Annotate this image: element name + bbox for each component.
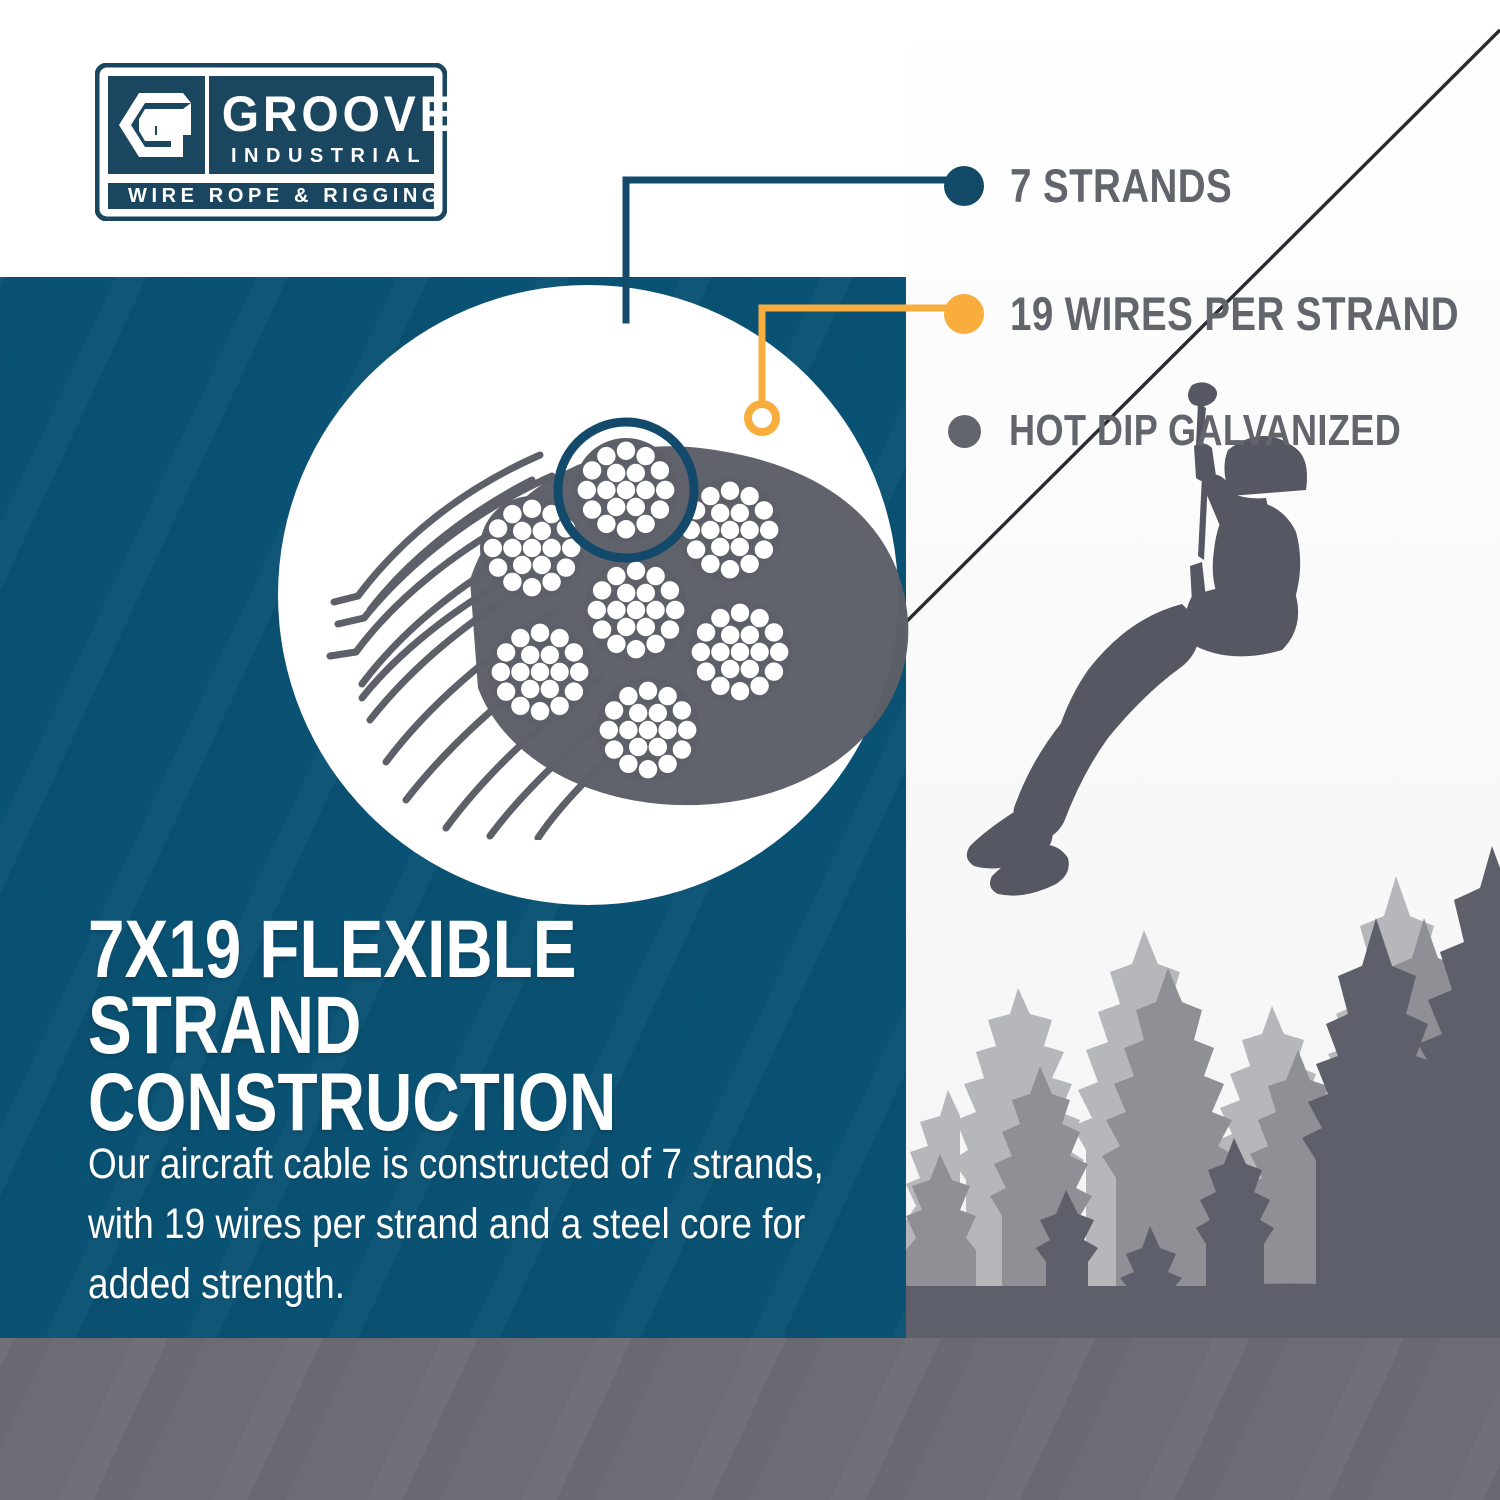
callout-19-wires-per-strand[interactable]: 19 WIRES PER STRAND (944, 286, 1500, 341)
strand-core (584, 558, 688, 662)
brand-logo[interactable]: GROOVE INDUSTRIAL WIRE ROPE & RIGGING (95, 63, 447, 221)
logo-subtitle: INDUSTRIAL (231, 145, 427, 167)
body-paragraph: Our aircraft cable is constructed of 7 s… (88, 1134, 828, 1315)
callout-7-strands[interactable]: 7 STRANDS (944, 158, 1281, 213)
callout-label-strands: 7 STRANDS (1010, 158, 1232, 213)
page-title: 7X19 FLEXIBLE STRAND CONSTRUCTION (88, 912, 728, 1141)
logo-wordmark: GROOVE (222, 87, 447, 142)
logo-divider (205, 76, 209, 174)
footer-band (0, 1338, 1500, 1500)
strand-bottom (596, 678, 700, 782)
orange-anchor-ring (748, 404, 776, 432)
headline-line-2: STRAND CONSTRUCTION (88, 988, 728, 1141)
connector-strands (626, 180, 952, 320)
gray-dot-icon (948, 415, 981, 448)
logo-tagline: WIRE ROPE & RIGGING (128, 185, 442, 207)
callout-label-galvanized: HOT DIP GALVANIZED (1009, 406, 1401, 456)
navy-dot-icon (944, 166, 984, 206)
brand-logo-svg: GROOVE INDUSTRIAL WIRE ROPE & RIGGING (95, 63, 447, 221)
callout-hot-dip-galvanized[interactable]: HOT DIP GALVANIZED (948, 406, 1487, 456)
infographic-canvas: 7 STRANDS 19 WIRES PER STRAND HOT DIP GA… (0, 0, 1500, 1500)
strand-lower-left (488, 620, 592, 724)
callout-label-wires: 19 WIRES PER STRAND (1010, 286, 1459, 341)
orange-dot-icon (944, 294, 984, 334)
footer-stripe-texture (0, 1338, 1500, 1500)
strand-lower-right (688, 600, 792, 704)
connector-wires (762, 308, 952, 418)
